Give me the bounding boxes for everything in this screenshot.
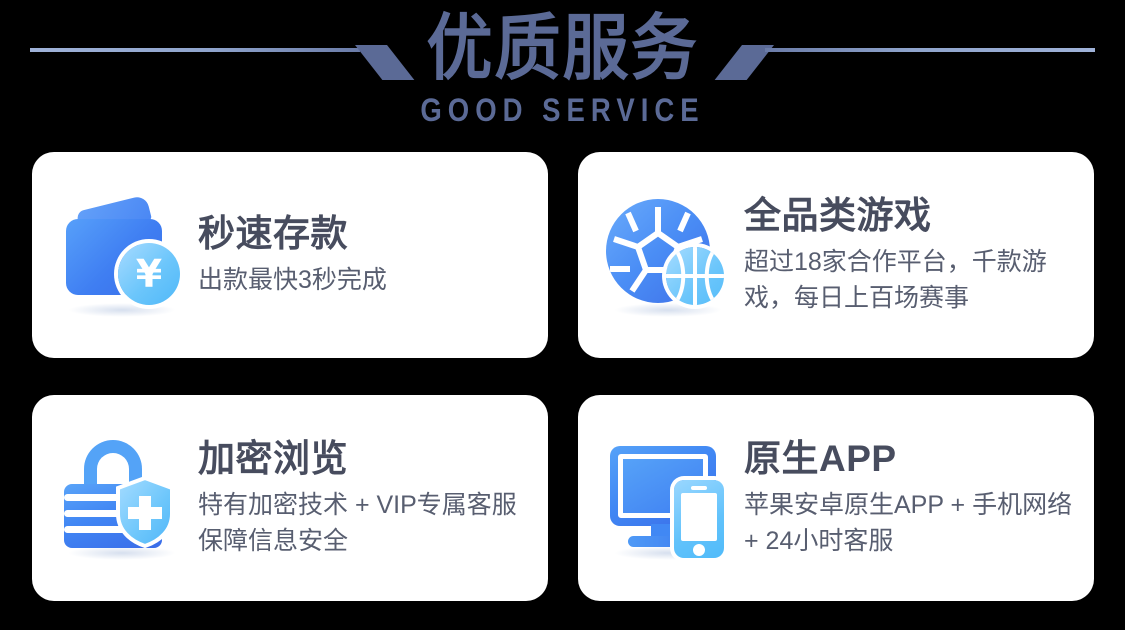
phone-speaker	[691, 486, 707, 490]
phone-home-button	[693, 544, 705, 556]
card-description: 苹果安卓原生APP + 手机网络 + 24小时客服	[744, 487, 1078, 559]
page-header: 优质服务 GOOD SERVICE	[0, 0, 1125, 145]
phone-icon	[674, 480, 724, 558]
feature-card-encryption[interactable]: 加密浏览 特有加密技术 + VIP专属客服保障信息安全	[32, 395, 548, 601]
card-text: 全品类游戏 超过18家合作平台，千款游戏，每日上百场赛事	[736, 194, 1078, 316]
phone-screen	[681, 493, 717, 541]
card-title: 全品类游戏	[744, 194, 1078, 238]
card-title: 原生APP	[744, 437, 1078, 481]
lock-shield-icon	[58, 432, 190, 564]
icon-shadow	[614, 303, 722, 317]
soccer-basketball-icon	[604, 189, 736, 321]
wallet-yen-icon: ¥	[58, 189, 190, 321]
feature-card-native-app[interactable]: 原生APP 苹果安卓原生APP + 手机网络 + 24小时客服	[578, 395, 1094, 601]
card-text: 加密浏览 特有加密技术 + VIP专属客服保障信息安全	[190, 437, 532, 559]
icon-shadow	[68, 546, 176, 560]
page-title: 优质服务	[45, 0, 1080, 92]
feature-card-grid: ¥ 秒速存款 出款最快3秒完成	[32, 152, 1094, 601]
page-subtitle: GOOD SERVICE	[79, 92, 1047, 128]
yen-symbol: ¥	[118, 243, 180, 305]
card-title: 秒速存款	[198, 212, 532, 256]
yen-coin-icon: ¥	[118, 243, 180, 305]
card-text: 秒速存款 出款最快3秒完成	[190, 212, 532, 298]
card-description: 特有加密技术 + VIP专属客服保障信息安全	[198, 487, 532, 559]
feature-card-deposit[interactable]: ¥ 秒速存款 出款最快3秒完成	[32, 152, 548, 358]
feature-card-games[interactable]: 全品类游戏 超过18家合作平台，千款游戏，每日上百场赛事	[578, 152, 1094, 358]
monitor-phone-icon	[604, 432, 736, 564]
title-block: 优质服务 GOOD SERVICE	[0, 0, 1125, 128]
card-title: 加密浏览	[198, 437, 532, 481]
card-text: 原生APP 苹果安卓原生APP + 手机网络 + 24小时客服	[736, 437, 1078, 559]
icon-shadow	[68, 303, 176, 317]
card-description: 出款最快3秒完成	[198, 262, 532, 298]
card-description: 超过18家合作平台，千款游戏，每日上百场赛事	[744, 244, 1078, 316]
shield-plus-icon	[114, 476, 176, 548]
basketball-icon	[666, 247, 724, 305]
